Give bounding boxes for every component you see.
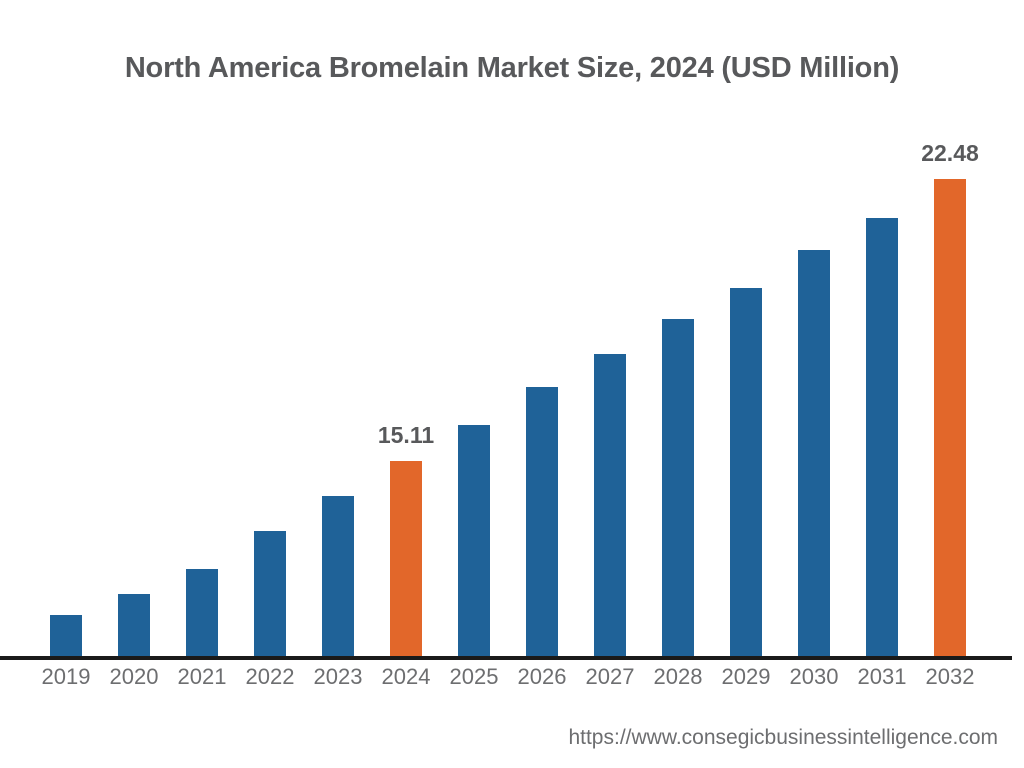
bar-2027[interactable] [594,354,626,656]
bar-slot [712,122,780,656]
bar-2028[interactable] [662,319,694,656]
bar-slot: 22.48 [916,122,984,656]
bar-slot [848,122,916,656]
bar-2029[interactable] [730,288,762,656]
x-tick-label-2028: 2028 [644,664,712,690]
bar-2032[interactable] [934,179,966,656]
bar-2031[interactable] [866,218,898,656]
x-tick-label-2021: 2021 [168,664,236,690]
bar-slot [644,122,712,656]
x-tick-label-2029: 2029 [712,664,780,690]
x-tick-label-2031: 2031 [848,664,916,690]
bar-2023[interactable] [322,496,354,656]
x-tick-label-2026: 2026 [508,664,576,690]
x-axis-line [0,656,1012,660]
bar-slot [168,122,236,656]
bar-2019[interactable] [50,615,82,656]
x-axis-tick-labels: 2019202020212022202320242025202620272028… [0,664,1024,698]
x-tick-label-2025: 2025 [440,664,508,690]
plot-area: 15.1122.48 [0,120,1024,658]
x-tick-label-2020: 2020 [100,664,168,690]
x-tick-label-2030: 2030 [780,664,848,690]
bar-value-label-2032: 22.48 [910,140,990,167]
bar-2026[interactable] [526,387,558,656]
bar-slot [32,122,100,656]
bar-slot [780,122,848,656]
bar-slot [576,122,644,656]
bar-slot [440,122,508,656]
bar-slot [508,122,576,656]
x-tick-label-2027: 2027 [576,664,644,690]
source-url-text: https://www.consegicbusinessintelligence… [568,726,998,750]
bar-slot: 15.11 [372,122,440,656]
bar-value-label-2024: 15.11 [366,422,446,449]
bar-2022[interactable] [254,531,286,656]
x-tick-label-2019: 2019 [32,664,100,690]
chart-title: North America Bromelain Market Size, 202… [0,52,1024,85]
x-tick-label-2022: 2022 [236,664,304,690]
bar-2020[interactable] [118,594,150,656]
bar-slot [236,122,304,656]
x-tick-label-2024: 2024 [372,664,440,690]
bar-2025[interactable] [458,425,490,656]
bar-2030[interactable] [798,250,830,656]
bar-slot [304,122,372,656]
bar-slot [100,122,168,656]
bar-2024[interactable] [390,461,422,656]
x-tick-label-2032: 2032 [916,664,984,690]
bar-2021[interactable] [186,569,218,656]
x-tick-label-2023: 2023 [304,664,372,690]
bar-chart-figure: North America Bromelain Market Size, 202… [0,0,1024,768]
